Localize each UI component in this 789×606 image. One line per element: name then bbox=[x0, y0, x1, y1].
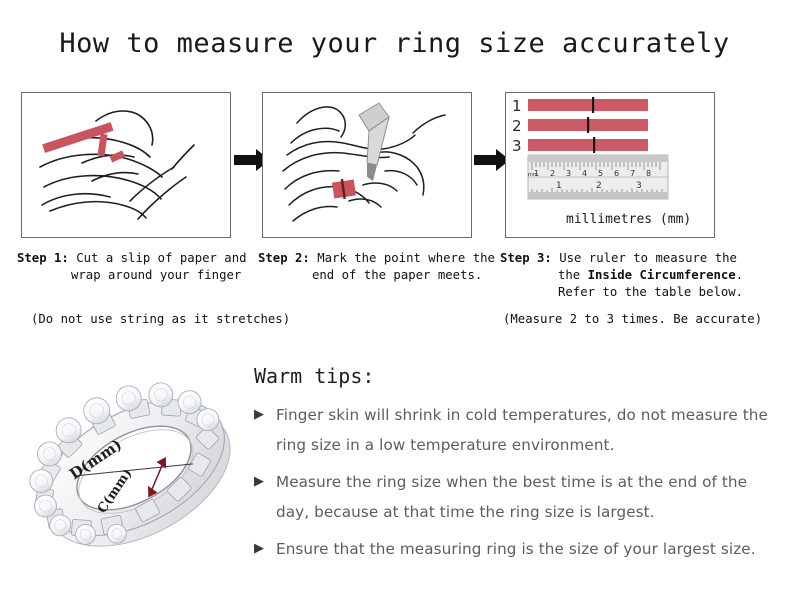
svg-text:2: 2 bbox=[596, 181, 602, 191]
strip-label-3: 3 bbox=[512, 137, 522, 155]
page-title: How to measure your ring size accurately bbox=[0, 28, 789, 59]
hand-marking-pen-icon bbox=[263, 93, 471, 237]
step-3-line2: the Inside Circumference. bbox=[500, 267, 770, 284]
step-2-line1: Mark the point where the bbox=[317, 251, 495, 265]
hand-with-paper-strip-icon bbox=[22, 93, 230, 237]
list-item: ▶ Ensure that the measuring ring is the … bbox=[254, 534, 774, 564]
svg-text:8: 8 bbox=[646, 169, 651, 178]
measured-strips bbox=[528, 97, 648, 153]
ruler-caption: millimetres (mm) bbox=[566, 212, 691, 227]
step-1-lead: Step 1: bbox=[17, 251, 69, 265]
paper-strip-shape bbox=[332, 179, 356, 199]
list-item: ▶ Measure the ring size when the best ti… bbox=[254, 467, 774, 527]
warm-tips-heading: Warm tips: bbox=[254, 364, 374, 388]
step-3-line3: Refer to the table below. bbox=[500, 284, 770, 301]
tip-text: Ensure that the measuring ring is the si… bbox=[276, 540, 756, 558]
step-3-caption: Step 3: Use ruler to measure the the Ins… bbox=[500, 250, 770, 301]
step-2-caption: Step 2: Mark the point where the end of … bbox=[258, 250, 498, 284]
ring-size-guide-page: How to measure your ring size accurately bbox=[0, 0, 789, 606]
svg-text:mm: mm bbox=[528, 172, 538, 178]
warm-tips-list: ▶ Finger skin will shrink in cold temper… bbox=[254, 400, 774, 571]
step-1-line1: Cut a slip of paper and bbox=[76, 251, 246, 265]
step-2-line2: end of the paper meets. bbox=[258, 267, 498, 284]
svg-text:3: 3 bbox=[636, 181, 642, 191]
svg-text:4: 4 bbox=[582, 169, 587, 178]
svg-text:1: 1 bbox=[556, 181, 562, 191]
svg-text:6: 6 bbox=[614, 169, 619, 178]
step-3-line1: Use ruler to measure the bbox=[559, 251, 737, 265]
bullet-triangle-icon: ▶ bbox=[254, 534, 264, 564]
inside-circumference-emphasis: Inside Circumference bbox=[588, 268, 736, 282]
step-1-line2: wrap around your finger bbox=[17, 267, 257, 284]
strip-label-1: 1 bbox=[512, 97, 522, 115]
step-1-caption: Step 1: Cut a slip of paper and wrap aro… bbox=[17, 250, 257, 284]
step-3-line2-tail: . bbox=[736, 268, 743, 282]
list-item: ▶ Finger skin will shrink in cold temper… bbox=[254, 400, 774, 460]
strip-label-2: 2 bbox=[512, 117, 522, 135]
svg-text:2: 2 bbox=[550, 169, 555, 178]
bullet-triangle-icon: ▶ bbox=[254, 400, 264, 430]
step-3-lead: Step 3: bbox=[500, 251, 552, 265]
ruler-with-strips-icon: 1 2 3 bbox=[506, 93, 714, 237]
step-2-lead: Step 2: bbox=[258, 251, 310, 265]
step-1-illustration-panel bbox=[21, 92, 231, 238]
step-1-note: (Do not use string as it stretches) bbox=[31, 312, 290, 326]
svg-text:5: 5 bbox=[598, 169, 603, 178]
pen-shape bbox=[359, 103, 389, 181]
tip-text: Finger skin will shrink in cold temperat… bbox=[276, 406, 768, 454]
svg-text:7: 7 bbox=[630, 169, 635, 178]
step-2-illustration-panel bbox=[262, 92, 472, 238]
svg-text:3: 3 bbox=[566, 169, 571, 178]
diamond-eternity-ring-illustration: D(mm) C(mm) bbox=[16, 352, 252, 584]
step-3-illustration-panel: 1 2 3 bbox=[505, 92, 715, 238]
ruler-shape: 123 456 78 mm 123 bbox=[528, 155, 668, 199]
bullet-triangle-icon: ▶ bbox=[254, 467, 264, 497]
tip-text: Measure the ring size when the best time… bbox=[276, 473, 747, 521]
paper-strip-shape bbox=[42, 122, 125, 162]
step-3-note: (Measure 2 to 3 times. Be accurate) bbox=[503, 312, 762, 326]
step-3-line2-prefix: the bbox=[558, 268, 588, 282]
